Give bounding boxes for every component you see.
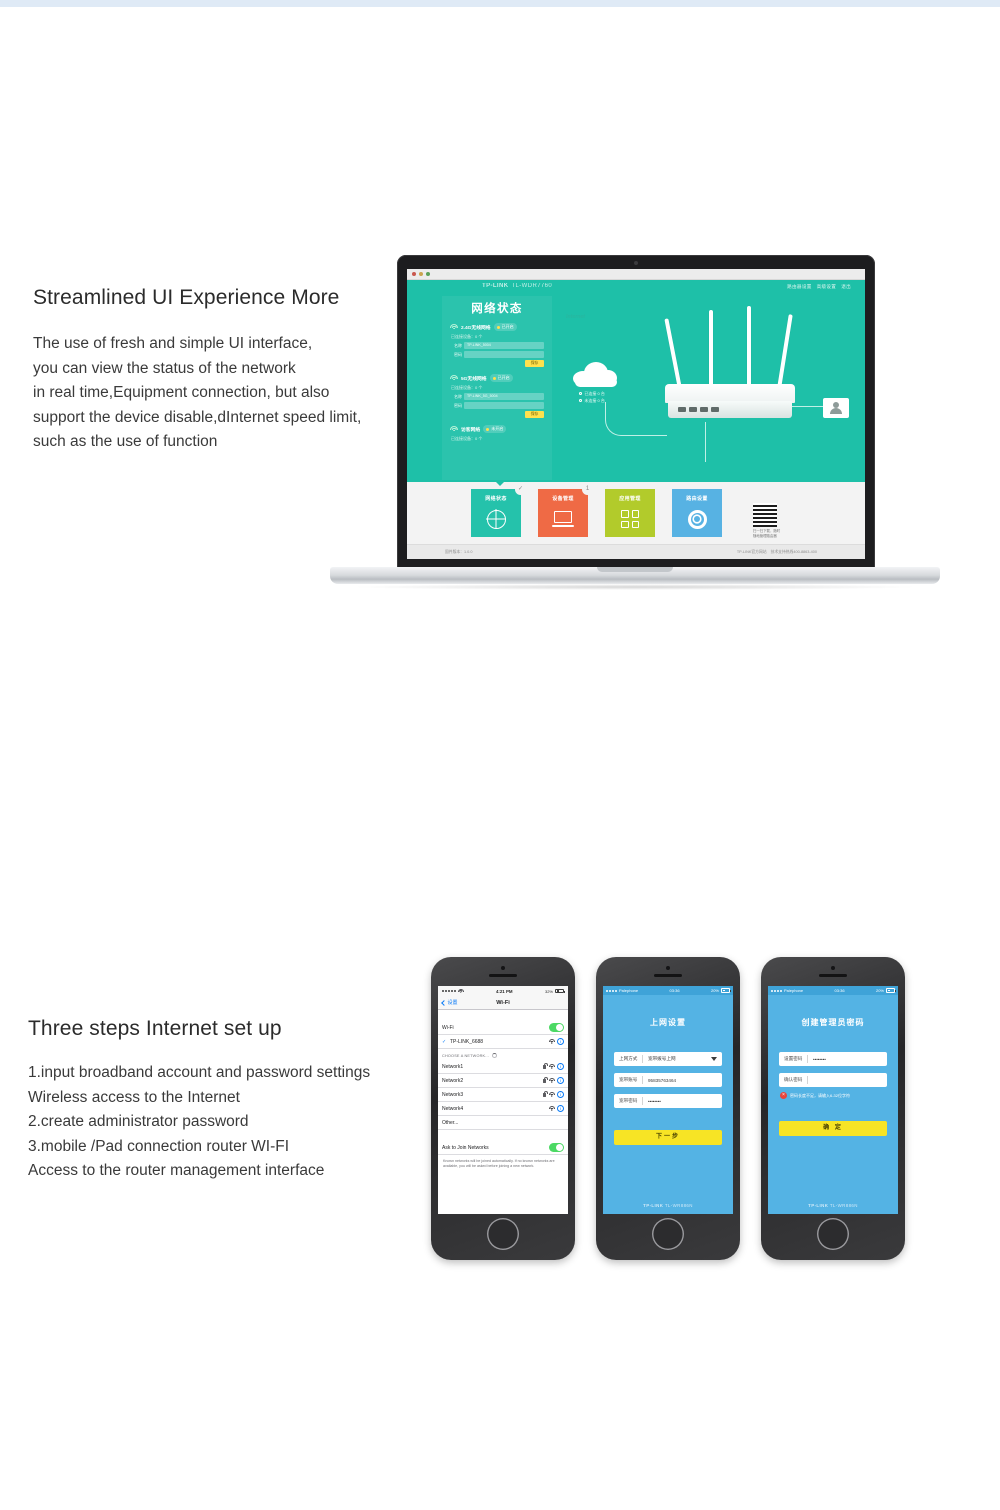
ios-status-bar: Palephone 03:36 20% <box>768 986 898 995</box>
password-input[interactable] <box>464 351 544 358</box>
status-led-icon <box>497 326 500 329</box>
battery-percent: 20% <box>711 988 719 993</box>
network-section-24g: 2.4G无线网络 已开启 已连接设备：0 个 名称 TP-LINK_5004 密… <box>450 323 544 367</box>
list-item[interactable]: Network1 i <box>438 1060 568 1074</box>
status-time: 03:36 <box>640 988 709 993</box>
list-item[interactable]: Network3 i <box>438 1088 568 1102</box>
info-icon[interactable]: i <box>557 1077 564 1084</box>
internet-setup-form: 上网方式 宽带拨号上网 宽带账号 95835763464 宽带密码 ••••••… <box>603 1052 733 1108</box>
internet-setup-screen: Palephone 03:36 20% 上网设置 上网方式 宽带拨号上网 <box>603 986 733 1214</box>
network-status-panel: 网络状态 2.4G无线网络 已开启 已连接设备：0 个 名称 <box>442 296 552 480</box>
status-text: 已开启 <box>502 324 514 330</box>
phone-screen: 4:21 PM 32% 设置 Wi-Fi Wi-Fi ✓ <box>438 986 568 1214</box>
other-network-row[interactable]: Other... <box>438 1116 568 1130</box>
wire-router-down <box>705 422 706 462</box>
top-accent-strip <box>0 0 1000 7</box>
tplink-model: TL-WDR7760 <box>511 283 552 289</box>
client-device-icon <box>823 398 849 418</box>
admin-password-form: 设置密码 •••••••• 确认密码 <box>768 1052 898 1087</box>
choose-network-header: CHOOSE A NETWORK... <box>438 1049 568 1060</box>
battery-icon <box>886 988 895 993</box>
network-name: Network4 <box>442 1106 546 1112</box>
wifi-icon <box>549 1106 555 1111</box>
ui-experience-text-block: Streamlined UI Experience More The use o… <box>33 286 361 455</box>
tile-pointer-icon <box>495 481 505 486</box>
lock-icon <box>543 1079 546 1083</box>
chevron-left-icon <box>441 1000 447 1006</box>
save-button[interactable]: 保存 <box>525 411 544 418</box>
chevron-down-icon <box>711 1057 717 1061</box>
checkmark-icon: ✓ <box>442 1039 447 1045</box>
battery-indicator: 20% <box>711 988 730 993</box>
error-text: 密码长度不足，请输入6-32位字符 <box>790 1093 850 1099</box>
minimize-dot[interactable] <box>419 272 423 276</box>
carrier-name: Palephone <box>619 988 638 993</box>
body-line: 2.create administrator password <box>28 1110 370 1135</box>
confirm-button[interactable]: 确 定 <box>779 1121 887 1136</box>
field-label: 设置密码 <box>784 1056 802 1062</box>
network-section-guest: 访客网络 未开启 已连接设备：0 个 <box>450 425 544 442</box>
status-text: 已开启 <box>498 375 510 381</box>
ssid-label: 名称 <box>450 343 462 349</box>
info-icon[interactable]: i <box>557 1063 564 1070</box>
antenna-icon <box>777 314 793 388</box>
list-item[interactable]: Network4 i <box>438 1102 568 1116</box>
lock-icon <box>543 1093 546 1097</box>
password-row: 密码 <box>450 402 544 409</box>
wifi-icon <box>458 989 464 994</box>
tile-label: 设备管理 <box>538 495 588 502</box>
brand-name: TP-LINK <box>643 1203 663 1208</box>
wifi-icon <box>549 1078 555 1083</box>
router-device-image <box>665 384 795 420</box>
front-camera-icon <box>831 966 835 970</box>
router-ui-tiles: ✓ 网络状态 1 设备管理 应用管理 <box>407 482 865 544</box>
laptop-base <box>330 567 940 584</box>
firmware-version: 固件版本：1.0.0 <box>445 550 472 555</box>
signal-indicator <box>442 989 464 994</box>
close-dot[interactable] <box>412 272 416 276</box>
field-label: 宽带账号 <box>619 1077 637 1083</box>
field-value: •••••••• <box>813 1057 882 1062</box>
field-label: 宽带密码 <box>619 1098 637 1104</box>
field-value: •••••••• <box>648 1099 717 1104</box>
info-icon[interactable]: i <box>557 1091 564 1098</box>
three-steps-text-block: Three steps Internet set up 1.input broa… <box>28 1017 370 1184</box>
signal-dots-icon <box>771 990 782 992</box>
tplink-brand-footer: TP-LINK TL-WR886N <box>768 1203 898 1208</box>
body-line: such as the use of function <box>33 430 361 455</box>
tile-row: ✓ 网络状态 1 设备管理 应用管理 <box>471 489 783 538</box>
tile-network-status[interactable]: ✓ 网络状态 <box>471 489 521 537</box>
other-label: Other... <box>442 1120 564 1126</box>
battery-indicator: 32% <box>545 989 564 994</box>
page-title: 创建管理员密码 <box>768 1017 898 1028</box>
bullet-icon <box>579 392 582 395</box>
brand-model: TL-WR886N <box>665 1203 693 1208</box>
webcam-icon <box>634 261 638 265</box>
network-name: Network2 <box>442 1078 540 1084</box>
network-section-header: 2.4G无线网络 已开启 <box>450 323 544 331</box>
ssid-input[interactable]: TP-LINK_5G_5004 <box>464 393 544 400</box>
wifi-icon <box>450 375 458 382</box>
tile-badge: 1 <box>582 484 593 495</box>
client-counts: 已连接 0 台 未连接 0 台 <box>579 390 605 404</box>
list-item[interactable]: Network2 i <box>438 1074 568 1088</box>
broadband-password-field[interactable]: 宽带密码 •••••••• <box>614 1094 722 1108</box>
field-value: 宽带拨号上网 <box>648 1056 711 1062</box>
internet-cloud-icon <box>573 362 619 388</box>
tplink-brand-footer: TP-LINK TL-WR886N <box>603 1203 733 1208</box>
set-password-field[interactable]: 设置密码 •••••••• <box>779 1052 887 1066</box>
tile-label: 路由设置 <box>672 495 722 502</box>
tile-label: 网络状态 <box>471 495 521 502</box>
save-button[interactable]: 保存 <box>525 360 544 367</box>
ssid-input[interactable]: TP-LINK_5004 <box>464 342 544 349</box>
connection-type-select[interactable]: 上网方式 宽带拨号上网 <box>614 1052 722 1066</box>
qr-caption: 扫一扫下载，随时随地管理路由器 <box>753 529 783 538</box>
wifi-icon <box>450 426 458 433</box>
front-camera-icon <box>501 966 505 970</box>
body-line: 1.input broadband account and password s… <box>28 1061 370 1086</box>
tile-label: 应用管理 <box>605 495 655 502</box>
body-line: you can view the status of the network <box>33 357 361 382</box>
gear-icon <box>672 507 722 531</box>
loading-spinner-icon <box>492 1053 497 1058</box>
phone-wifi-settings: 4:21 PM 32% 设置 Wi-Fi Wi-Fi ✓ <box>431 957 575 1260</box>
home-button[interactable] <box>487 1218 519 1250</box>
laptop-shadow <box>350 584 920 590</box>
wifi-toggle-label: Wi-Fi <box>442 1025 546 1031</box>
battery-percent: 20% <box>876 988 884 993</box>
page-root: Streamlined UI Experience More The use o… <box>0 0 1000 1510</box>
wifi-icon <box>450 324 458 331</box>
tplink-brand: TP-LINK <box>482 283 508 289</box>
network-name: Network3 <box>442 1092 540 1098</box>
footer-links: TP-LINK官方网站 技术支持热线400-8863-400 <box>737 550 817 555</box>
ask-to-join-toggle[interactable] <box>549 1143 564 1152</box>
tile-device-management[interactable]: 1 设备管理 <box>538 489 588 537</box>
nav-item-logout[interactable]: 退出 <box>841 284 851 290</box>
connected-network-name: TP-LINK_6688 <box>450 1039 546 1045</box>
status-badge: 已开启 <box>494 323 517 331</box>
antenna-icon <box>664 318 681 387</box>
laptop-lid: TP-LINKTL-WDR7760 路由器设置 高级设置 退出 网络状态 <box>397 255 875 573</box>
network-name: 访客网络 <box>461 426 480 433</box>
cloud-label: Internet <box>566 314 585 320</box>
wifi-toggle-switch[interactable] <box>549 1023 564 1032</box>
client-count-row: 已连接 0 台 <box>579 390 605 397</box>
ios-navigation-bar: 设置 Wi-Fi <box>438 996 568 1010</box>
wifi-toggle-row[interactable]: Wi-Fi <box>438 1021 568 1035</box>
network-name: 5G无线网络 <box>461 375 487 382</box>
battery-percent: 32% <box>545 989 553 994</box>
status-time: 03:36 <box>805 988 874 993</box>
connected-count: 已连接设备：0 个 <box>451 436 544 442</box>
wifi-icon <box>549 1092 555 1097</box>
body-line: Access to the router management interfac… <box>28 1159 370 1184</box>
connected-count: 已连接设备：0 个 <box>451 385 544 391</box>
earpiece-speaker <box>489 974 517 977</box>
phone-internet-setup: Palephone 03:36 20% 上网设置 上网方式 宽带拨号上网 <box>596 957 740 1260</box>
laptop-mockup: TP-LINKTL-WDR7760 路由器设置 高级设置 退出 网络状态 <box>330 255 940 600</box>
nav-item-router-settings[interactable]: 路由器设置 <box>787 284 811 290</box>
back-label: 设置 <box>448 999 458 1006</box>
qr-block: 扫一扫下载，随时随地管理路由器 <box>753 503 783 538</box>
ask-to-join-label: Ask to Join Networks <box>442 1145 546 1151</box>
network-status-title: 网络状态 <box>442 300 552 316</box>
status-text: 未开启 <box>491 426 503 432</box>
three-steps-heading: Three steps Internet set up <box>28 1017 370 1041</box>
ask-to-join-row[interactable]: Ask to Join Networks <box>438 1141 568 1155</box>
home-button[interactable] <box>817 1218 849 1250</box>
password-input[interactable] <box>464 402 544 409</box>
bullet-icon <box>579 399 582 402</box>
tplink-logo: TP-LINKTL-WDR7760 <box>479 283 552 289</box>
earpiece-speaker <box>819 974 847 977</box>
body-line: 3.mobile /Pad connection router WI-FI <box>28 1135 370 1160</box>
network-section-5g: 5G无线网络 已开启 已连接设备：0 个 名称 TP-LINK_5G_5004 … <box>450 374 544 418</box>
ios-status-bar: Palephone 03:36 20% <box>603 986 733 995</box>
phone-admin-password: Palephone 03:36 20% 创建管理员密码 设置密码 •••••••… <box>761 957 905 1260</box>
confirm-password-field[interactable]: 确认密码 <box>779 1073 887 1087</box>
body-line: The use of fresh and simple UI interface… <box>33 332 361 357</box>
qr-code-icon <box>753 503 777 527</box>
field-label: 确认密码 <box>784 1077 802 1083</box>
body-line: Wireless access to the Internet <box>28 1086 370 1111</box>
network-section-header: 访客网络 未开启 <box>450 425 544 433</box>
router-ui-body: 网络状态 2.4G无线网络 已开启 已连接设备：0 个 名称 <box>407 296 865 482</box>
password-error-message: × 密码长度不足，请输入6-32位字符 <box>768 1092 898 1099</box>
zoom-dot[interactable] <box>426 272 430 276</box>
brand-model: TL-WR886N <box>830 1203 858 1208</box>
router-ui-header: TP-LINKTL-WDR7760 路由器设置 高级设置 退出 <box>407 280 865 296</box>
ssid-row: 名称 TP-LINK_5004 <box>450 342 544 349</box>
laptop-base-notch <box>597 567 673 572</box>
signal-dots-icon <box>442 990 456 992</box>
status-led-icon <box>493 377 496 380</box>
grid-icon <box>605 507 655 531</box>
battery-icon <box>555 989 564 994</box>
error-icon: × <box>780 1092 787 1099</box>
info-icon[interactable]: i <box>557 1105 564 1112</box>
password-row: 密码 <box>450 351 544 358</box>
connected-network-row[interactable]: ✓ TP-LINK_6688 i <box>438 1035 568 1049</box>
ui-experience-heading: Streamlined UI Experience More <box>33 286 361 310</box>
broadband-account-field[interactable]: 宽带账号 95835763464 <box>614 1073 722 1087</box>
row-accessories: i <box>549 1038 565 1045</box>
tile-badge: ✓ <box>515 484 526 495</box>
brand-name: TP-LINK <box>808 1203 828 1208</box>
tile-router-settings[interactable]: 路由设置 <box>672 489 722 537</box>
status-badge: 已开启 <box>490 374 513 382</box>
choose-network-label: CHOOSE A NETWORK... <box>442 1054 489 1058</box>
nav-item-advanced[interactable]: 高级设置 <box>817 284 837 290</box>
ios-spacer <box>438 1010 568 1021</box>
wire-cloud-to-router <box>605 402 667 436</box>
lock-icon <box>543 1065 546 1069</box>
globe-icon <box>471 507 521 531</box>
network-name: 2.4G无线网络 <box>461 324 491 331</box>
client-count-row: 未连接 0 台 <box>579 397 605 404</box>
status-time: 4:21 PM <box>464 989 545 994</box>
ios-spacer <box>438 1130 568 1141</box>
router-admin-ui: TP-LINKTL-WDR7760 路由器设置 高级设置 退出 网络状态 <box>407 280 865 559</box>
network-topology-illustration: Internet 已连接 0 台 未连接 0 台 <box>557 302 859 482</box>
password-label: 密码 <box>450 352 462 358</box>
body-line: in real time,Equipment connection, but a… <box>33 381 361 406</box>
page-title: 上网设置 <box>603 1017 733 1028</box>
laptop-icon <box>538 507 588 531</box>
status-led-icon <box>486 428 489 431</box>
wifi-icon <box>549 1039 555 1044</box>
antenna-icon <box>747 306 751 388</box>
admin-password-screen: Palephone 03:36 20% 创建管理员密码 设置密码 •••••••… <box>768 986 898 1214</box>
laptop-screen: TP-LINKTL-WDR7760 路由器设置 高级设置 退出 网络状态 <box>407 269 865 559</box>
router-ui-nav: 路由器设置 高级设置 退出 <box>787 284 851 290</box>
browser-titlebar <box>407 269 865 280</box>
battery-icon <box>721 988 730 993</box>
field-label: 上网方式 <box>619 1056 637 1062</box>
front-camera-icon <box>666 966 670 970</box>
router-front-shell <box>668 401 792 418</box>
ask-to-join-note: Known networks will be joined automatica… <box>438 1155 568 1173</box>
network-section-header: 5G无线网络 已开启 <box>450 374 544 382</box>
battery-indicator: 20% <box>876 988 895 993</box>
earpiece-speaker <box>654 974 682 977</box>
footer-link-support: 技术支持热线400-8863-400 <box>771 550 817 555</box>
carrier-name: Palephone <box>784 988 803 993</box>
ui-experience-body: The use of fresh and simple UI interface… <box>33 332 361 455</box>
body-line: support the device disable,dInternet spe… <box>33 406 361 431</box>
next-button[interactable]: 下一步 <box>614 1130 722 1145</box>
ssid-label: 名称 <box>450 394 462 400</box>
ssid-row: 名称 TP-LINK_5G_5004 <box>450 393 544 400</box>
router-ports <box>678 407 719 412</box>
antenna-icon <box>709 310 713 388</box>
status-badge: 未开启 <box>483 425 506 433</box>
footer-link-website[interactable]: TP-LINK官方网站 <box>737 550 767 555</box>
back-button[interactable]: 设置 <box>442 999 458 1006</box>
connected-count: 已连接设备：0 个 <box>451 334 544 340</box>
three-steps-body: 1.input broadband account and password s… <box>28 1061 370 1184</box>
router-ui-footer: 固件版本：1.0.0 TP-LINK官方网站 技术支持热线400-8863-40… <box>407 544 865 559</box>
network-name: Network1 <box>442 1064 540 1070</box>
password-label: 密码 <box>450 403 462 409</box>
wifi-icon <box>549 1064 555 1069</box>
signal-dots-icon <box>606 990 617 992</box>
ios-status-bar: 4:21 PM 32% <box>438 986 568 996</box>
info-icon[interactable]: i <box>557 1038 564 1045</box>
tile-app-management[interactable]: 应用管理 <box>605 489 655 537</box>
field-value: 95835763464 <box>648 1078 717 1083</box>
home-button[interactable] <box>652 1218 684 1250</box>
phone-screen: Palephone 03:36 20% 创建管理员密码 设置密码 •••••••… <box>768 986 898 1214</box>
phone-screen: Palephone 03:36 20% 上网设置 上网方式 宽带拨号上网 <box>603 986 733 1214</box>
